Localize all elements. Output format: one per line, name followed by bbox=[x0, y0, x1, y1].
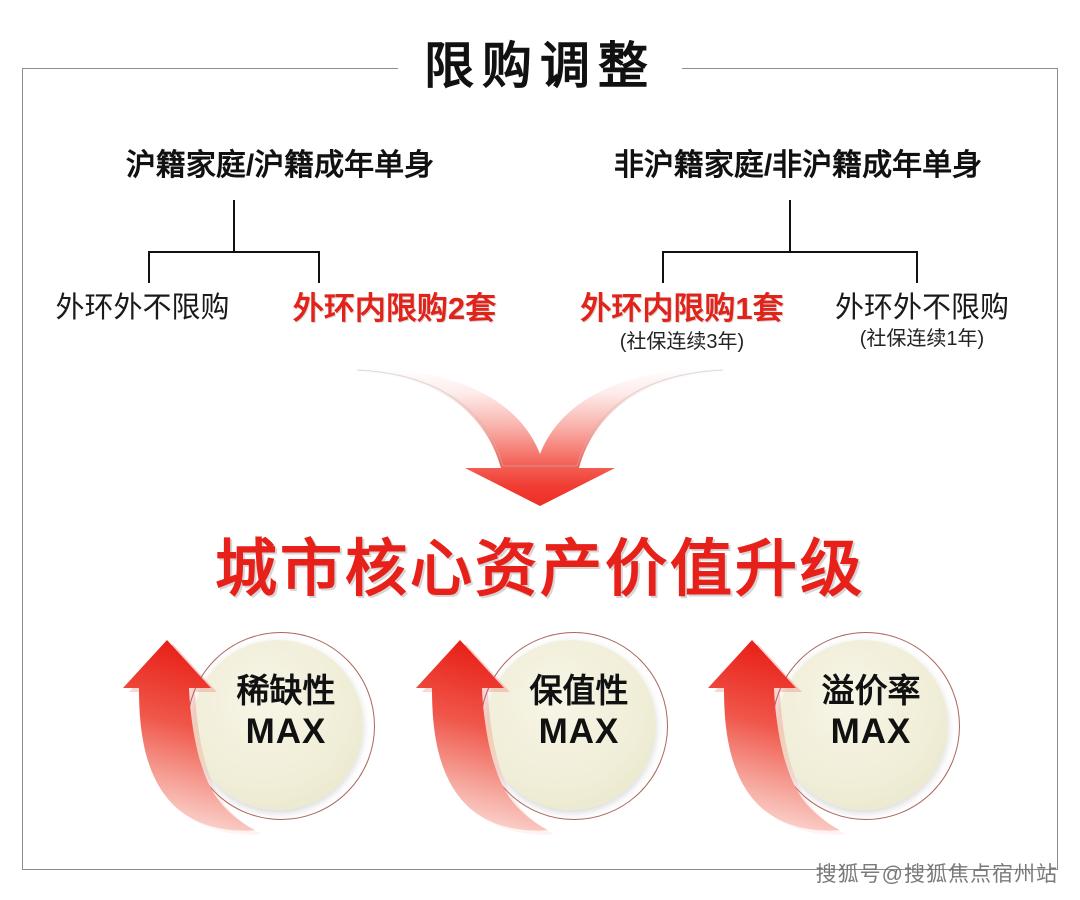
badge-value: MAX bbox=[201, 711, 371, 753]
badge-value: MAX bbox=[786, 711, 956, 753]
bracket-stem bbox=[233, 200, 235, 252]
badge-title: 稀缺性 bbox=[201, 670, 371, 711]
badge-row: 稀缺性 MAX 保值性 MAX bbox=[0, 622, 1080, 852]
branch-label-outer-ring-nonlocal: 外环外不限购 (社保连续1年) bbox=[806, 292, 1038, 350]
bracket-stem bbox=[789, 200, 791, 252]
badge-title: 溢价率 bbox=[786, 670, 956, 711]
bracket-leg-right bbox=[916, 251, 918, 283]
bracket-leg-left bbox=[148, 251, 150, 283]
badge-value: MAX bbox=[494, 711, 664, 753]
funnel-down-arrow-icon bbox=[355, 366, 725, 516]
branch-label-inner-ring-nonlocal: 外环内限购1套 (社保连续3年) bbox=[552, 292, 812, 353]
bracket-leg-right bbox=[318, 251, 320, 283]
page-title: 限购调整 bbox=[398, 41, 682, 91]
headline: 城市核心资产价值升级 bbox=[0, 518, 1080, 608]
badge-value-retention: 保值性 MAX bbox=[398, 622, 698, 852]
branch-sub-text: (社保连续1年) bbox=[806, 328, 1038, 350]
badge-premium-rate: 溢价率 MAX bbox=[690, 622, 990, 852]
bracket-leg-left bbox=[662, 251, 664, 283]
branch-label-outer-ring-local: 外环外不限购 bbox=[30, 292, 255, 324]
branch-main-text: 外环外不限购 bbox=[806, 292, 1038, 324]
title-row: 限购调整 bbox=[0, 30, 1080, 102]
branch-main-text: 外环内限购1套 bbox=[552, 292, 812, 327]
bracket-bar bbox=[662, 251, 918, 253]
badge-scarcity: 稀缺性 MAX bbox=[105, 622, 405, 852]
branch-sub-text: (社保连续3年) bbox=[552, 331, 812, 353]
branch-main-text: 外环内限购2套 bbox=[262, 292, 527, 327]
column-header-local: 沪籍家庭/沪籍成年单身 bbox=[60, 140, 500, 184]
column-header-nonlocal: 非沪籍家庭/非沪籍成年单身 bbox=[548, 140, 1048, 184]
badge-title: 保值性 bbox=[494, 670, 664, 711]
badge-label: 溢价率 MAX bbox=[786, 670, 956, 753]
badge-label: 保值性 MAX bbox=[494, 670, 664, 753]
bracket-bar bbox=[148, 251, 320, 253]
branch-main-text: 外环外不限购 bbox=[30, 292, 255, 324]
branch-label-inner-ring-local: 外环内限购2套 bbox=[262, 292, 527, 327]
watermark: 搜狐号@搜狐焦点宿州站 bbox=[816, 858, 1058, 888]
badge-label: 稀缺性 MAX bbox=[201, 670, 371, 753]
